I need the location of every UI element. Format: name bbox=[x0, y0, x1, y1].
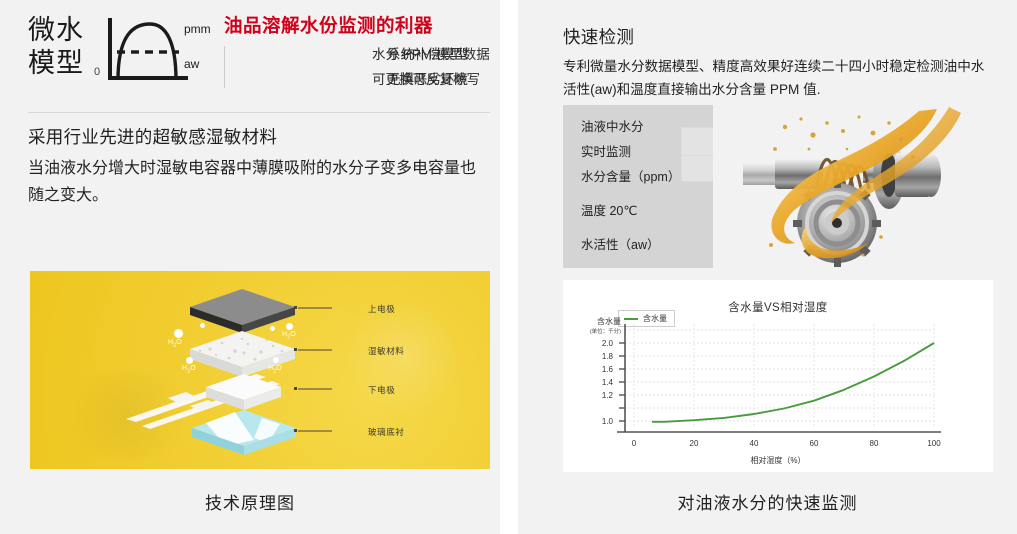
svg-text:1.6: 1.6 bbox=[602, 365, 614, 374]
spec-item: 水活性（aw） bbox=[581, 233, 721, 258]
page-root: 微水 模型 0 pmm bbox=[0, 0, 1017, 534]
feature-divider bbox=[224, 46, 225, 88]
leader-lines bbox=[298, 308, 332, 431]
sensor-layers-art bbox=[30, 271, 490, 469]
svg-text:60: 60 bbox=[810, 439, 819, 448]
layer-glass-substrate bbox=[192, 410, 296, 455]
curve-icon-top-text: pmm bbox=[184, 22, 211, 36]
curve-graph-icon: pmm aw bbox=[104, 16, 216, 90]
left-caption: 技术原理图 bbox=[0, 489, 500, 514]
diagram-label-glass-substrate: 玻璃底衬 bbox=[368, 426, 404, 438]
h2o-label: H2O bbox=[268, 365, 282, 374]
spec-item: 温度 20℃ bbox=[581, 199, 721, 224]
right-caption: 对油液水分的快速监测 bbox=[518, 489, 1017, 514]
pitch-title: 油品溶解水份监测的利器 bbox=[224, 12, 496, 38]
brand-block: 微水 模型 0 pmm bbox=[28, 14, 218, 104]
sensor-exploded-diagram: 上电极 湿敏材料 下电极 玻璃底衬 H2O H2O H2O H2O bbox=[30, 271, 490, 469]
oil-monitoring-photo: 油液中水分 实时监测 水分含量（ppm） 温度 20℃ 水活性（aw） bbox=[563, 105, 993, 268]
feature-item: 无惧恶劣环境 bbox=[373, 69, 491, 90]
water-bubble bbox=[186, 357, 193, 364]
feature-item: 系统补偿模型 bbox=[373, 44, 491, 65]
right-heading: 快速检测 bbox=[563, 24, 634, 49]
left-header: 微水 模型 0 pmm bbox=[28, 12, 490, 104]
chart-x-axis-label: 相对湿度（%） bbox=[563, 455, 993, 466]
spec-item: 实时监测 bbox=[581, 140, 721, 165]
svg-text:40: 40 bbox=[750, 439, 759, 448]
water-bubble bbox=[273, 357, 279, 363]
leader-dots bbox=[294, 306, 297, 432]
right-panel: 快速检测 专利微量水分数据模型、精度高效果好连续二十四小时稳定检测油中水活性(a… bbox=[518, 0, 1017, 534]
svg-text:1.0: 1.0 bbox=[602, 417, 614, 426]
chart-canvas: 2.0 1.8 1.6 1.4 1.2 1.0 0 20 40 60 80 10… bbox=[563, 280, 993, 472]
left-panel: 微水 模型 0 pmm bbox=[0, 0, 500, 534]
left-paragraph: 当油液水分增大时湿敏电容器中薄膜吸附的水分子变多电容量也随之变大。 bbox=[28, 155, 480, 209]
brand-zero-label: 0 bbox=[94, 66, 100, 78]
right-paragraph: 专利微量水分数据模型、精度高效果好连续二十四小时稳定检测油中水活性(aw)和温度… bbox=[563, 55, 993, 101]
curve-icon-bottom-text: aw bbox=[184, 57, 200, 71]
h2o-label: H2O bbox=[182, 365, 196, 374]
brand-line-2: 模型 bbox=[28, 47, 84, 80]
pitch-block: 油品溶解水份监测的利器 水分 PPM 模型数据 系统补偿模型 可更换可反复檫写 … bbox=[224, 12, 496, 90]
diagram-label-sensing-material: 湿敏材料 bbox=[368, 345, 404, 357]
header-divider bbox=[28, 112, 490, 113]
spec-list: 油液中水分 实时监测 水分含量（ppm） 温度 20℃ 水活性（aw） bbox=[581, 115, 721, 258]
left-heading: 采用行业先进的超敏感湿敏材料 bbox=[28, 124, 277, 149]
svg-text:20: 20 bbox=[690, 439, 699, 448]
brand-wordmark: 微水 模型 bbox=[28, 14, 84, 80]
moisture-humidity-chart: 含水量VS相对湿度 含水量 含水量 (单位：千分) bbox=[563, 280, 993, 472]
diagram-label-bottom-electrode: 下电极 bbox=[368, 384, 395, 396]
h2o-label: H2O bbox=[282, 331, 296, 340]
svg-text:2.0: 2.0 bbox=[602, 339, 614, 348]
water-bubble bbox=[200, 323, 205, 328]
svg-text:80: 80 bbox=[870, 439, 879, 448]
pitch-feature-grid: 水分 PPM 模型数据 系统补偿模型 可更换可反复檫写 无惧恶劣环境 bbox=[224, 44, 496, 90]
layer-top-electrode bbox=[190, 289, 295, 333]
diagram-label-top-electrode: 上电极 bbox=[368, 303, 395, 315]
h2o-label: H2O bbox=[168, 339, 182, 348]
svg-text:0: 0 bbox=[632, 439, 637, 448]
svg-text:100: 100 bbox=[927, 439, 941, 448]
svg-text:1.2: 1.2 bbox=[602, 391, 614, 400]
gear-shaft-oil-splash-icon bbox=[713, 105, 993, 268]
water-bubble bbox=[174, 329, 183, 338]
svg-text:1.8: 1.8 bbox=[602, 352, 614, 361]
brand-line-1: 微水 bbox=[28, 14, 84, 47]
spec-item: 水分含量（ppm） bbox=[581, 165, 721, 190]
water-bubble bbox=[270, 326, 275, 331]
spec-item: 油液中水分 bbox=[581, 115, 721, 140]
water-bubble bbox=[286, 323, 293, 330]
svg-text:1.4: 1.4 bbox=[602, 378, 614, 387]
